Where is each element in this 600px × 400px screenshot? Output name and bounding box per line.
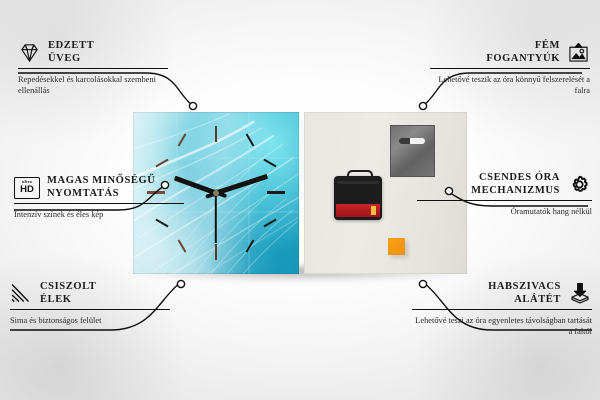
foam-pad-arrow-icon	[568, 282, 592, 306]
quartz-clock-movement	[334, 176, 382, 220]
hour-marker-2	[263, 159, 276, 168]
hour-marker-11	[178, 133, 187, 146]
ultra-hd-badge-icon: ultra HD	[14, 177, 40, 199]
hanger-keyhole-slot	[399, 138, 425, 144]
beveled-edges-icon	[10, 283, 33, 304]
callout-divider	[18, 68, 168, 69]
callout-csiszolt-elek: CSISZOLT ÉLEK Sima és biztonságos felüle…	[10, 281, 170, 327]
red-battery-label	[336, 204, 380, 217]
callout-head: CSISZOLT ÉLEK	[10, 281, 170, 306]
callout-title: EDZETT ÜVEG	[48, 40, 94, 65]
ultra-hd-large-text: HD	[20, 185, 34, 195]
callout-csendes-ora-mechanizmus: CSENDES ÓRA MECHANIZMUS Óramutatók hang …	[417, 172, 592, 218]
metal-hanger-plate	[390, 125, 435, 177]
callout-edzett-uveg: EDZETT ÜVEG Repedésekkel és karcolásokka…	[18, 40, 168, 96]
callout-fem-fogantyuk: FÉM FOGANTYÚK Lehetővé teszik az óra kön…	[430, 40, 590, 96]
callout-habszivacs-alatet: HABSZIVACS ALÁTÉT Lehetővé teszi az óra …	[412, 281, 592, 337]
callout-head: HABSZIVACS ALÁTÉT	[412, 281, 592, 306]
hour-marker-3	[267, 191, 285, 194]
hour-marker-7	[178, 239, 187, 252]
second-hand	[215, 193, 217, 243]
callout-head: FÉM FOGANTYÚK	[430, 40, 590, 65]
movement-hook	[347, 170, 373, 181]
connector-dot-edzett-uveg	[189, 102, 196, 109]
diamond-icon	[18, 42, 41, 63]
callout-title: CSENDES ÓRA MECHANIZMUS	[471, 172, 560, 197]
hour-marker-5	[246, 239, 255, 252]
callout-magas-minosegu-nyomtatas: ultra HD MAGAS MINŐSÉGŰ NYOMTATÁS Intenz…	[14, 175, 184, 221]
callout-divider	[10, 309, 170, 310]
callout-head: EDZETT ÜVEG	[18, 40, 168, 65]
gear-icon	[567, 173, 592, 196]
hour-marker-10	[155, 159, 168, 168]
callout-description: Lehetővé teszik az óra könnyű felszerelé…	[430, 72, 590, 96]
callout-divider	[430, 68, 590, 69]
callout-title: MAGAS MINŐSÉGŰ NYOMTATÁS	[47, 175, 155, 200]
callout-divider	[14, 203, 184, 204]
minute-hand	[215, 174, 268, 195]
callout-title: HABSZIVACS ALÁTÉT	[488, 281, 561, 306]
hour-marker-12	[215, 126, 217, 142]
infographic-canvas: EDZETT ÜVEG Repedésekkel és karcolásokka…	[0, 0, 600, 400]
callout-description: Óramutatók hang nélkül	[417, 204, 592, 218]
movement-ridge	[337, 181, 379, 184]
orange-foam-spacer-pad	[388, 238, 405, 255]
hour-marker-6	[215, 244, 217, 260]
callout-description: Intenzív színek és éles kép	[14, 207, 184, 221]
callout-head: ultra HD MAGAS MINŐSÉGŰ NYOMTATÁS	[14, 175, 184, 200]
hour-marker-1	[246, 133, 255, 146]
hour-marker-4	[263, 219, 276, 228]
callout-title: CSISZOLT ÉLEK	[40, 281, 96, 306]
connector-dot-fem-fogantyuk	[419, 102, 426, 109]
callout-description: Repedésekkel és karcolásokkal szembeni e…	[18, 72, 168, 96]
picture-hanger-icon	[567, 42, 590, 63]
battery-terminal	[371, 206, 376, 215]
callout-description: Sima és biztonságos felület	[10, 313, 170, 327]
callout-head: CSENDES ÓRA MECHANIZMUS	[417, 172, 592, 197]
callout-description: Lehetővé teszi az óra egyenletes távolsá…	[412, 313, 592, 337]
callout-divider	[417, 200, 592, 201]
callout-divider	[412, 309, 592, 310]
clock-center-pin	[213, 190, 219, 196]
callout-title: FÉM FOGANTYÚK	[486, 40, 560, 65]
